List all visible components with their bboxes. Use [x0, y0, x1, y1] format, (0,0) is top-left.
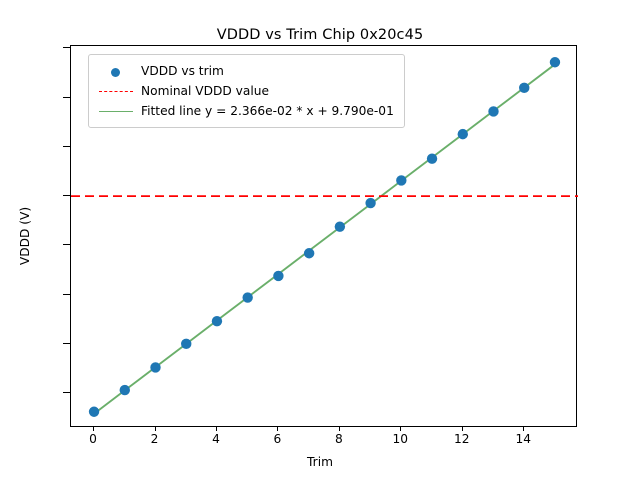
x-tick-label: 6	[274, 432, 282, 446]
legend-item-label: Nominal VDDD value	[141, 84, 269, 98]
x-tick-label: 8	[335, 432, 343, 446]
data-point	[212, 316, 222, 326]
x-tick-label: 2	[151, 432, 159, 446]
legend-dashed-line-icon	[97, 82, 135, 100]
y-tick-mark	[63, 146, 70, 147]
legend-solid-line-icon	[97, 102, 135, 120]
data-point	[304, 248, 314, 258]
dot-icon	[111, 68, 120, 77]
data-point	[89, 407, 99, 417]
x-tick-label: 12	[454, 432, 470, 446]
data-point	[335, 221, 345, 231]
legend-item: Nominal VDDD value	[97, 81, 394, 101]
legend: VDDD vs trimNominal VDDD valueFitted lin…	[88, 54, 405, 128]
y-axis-label: VDDD (V)	[18, 45, 36, 427]
data-point	[427, 154, 437, 164]
x-tick-label: 4	[212, 432, 220, 446]
y-tick-mark	[63, 47, 70, 48]
y-tick-mark	[63, 294, 70, 295]
y-tick-mark	[63, 392, 70, 393]
legend-item-label: VDDD vs trim	[141, 64, 224, 78]
data-point	[550, 57, 560, 67]
y-tick-mark	[63, 195, 70, 196]
data-point	[365, 198, 375, 208]
x-tick-label: 10	[393, 432, 409, 446]
x-tick-label: 14	[515, 432, 531, 446]
legend-item: Fitted line y = 2.366e-02 * x + 9.790e-0…	[97, 101, 394, 121]
data-point	[120, 385, 130, 395]
data-point	[488, 106, 498, 116]
data-point	[242, 292, 252, 302]
legend-item-label: Fitted line y = 2.366e-02 * x + 9.790e-0…	[141, 104, 394, 118]
data-point	[396, 175, 406, 185]
legend-dot-marker-icon	[97, 62, 135, 80]
y-tick-mark	[63, 244, 70, 245]
page-title: VDDD vs Trim Chip 0x20c45	[0, 27, 640, 43]
y-tick-mark	[63, 343, 70, 344]
solid-line-icon	[99, 111, 133, 112]
legend-item: VDDD vs trim	[97, 61, 394, 81]
data-point	[181, 339, 191, 349]
y-tick-mark	[63, 97, 70, 98]
dashed-line-icon	[99, 91, 133, 92]
data-point	[519, 83, 529, 93]
matplotlib-figure: VDDD vs Trim Chip 0x20c45 VDDD (V) Trim …	[0, 0, 640, 480]
data-point	[458, 129, 468, 139]
x-tick-label: 0	[89, 432, 97, 446]
data-point	[150, 362, 160, 372]
data-point	[273, 271, 283, 281]
x-axis-label: Trim	[0, 455, 640, 469]
